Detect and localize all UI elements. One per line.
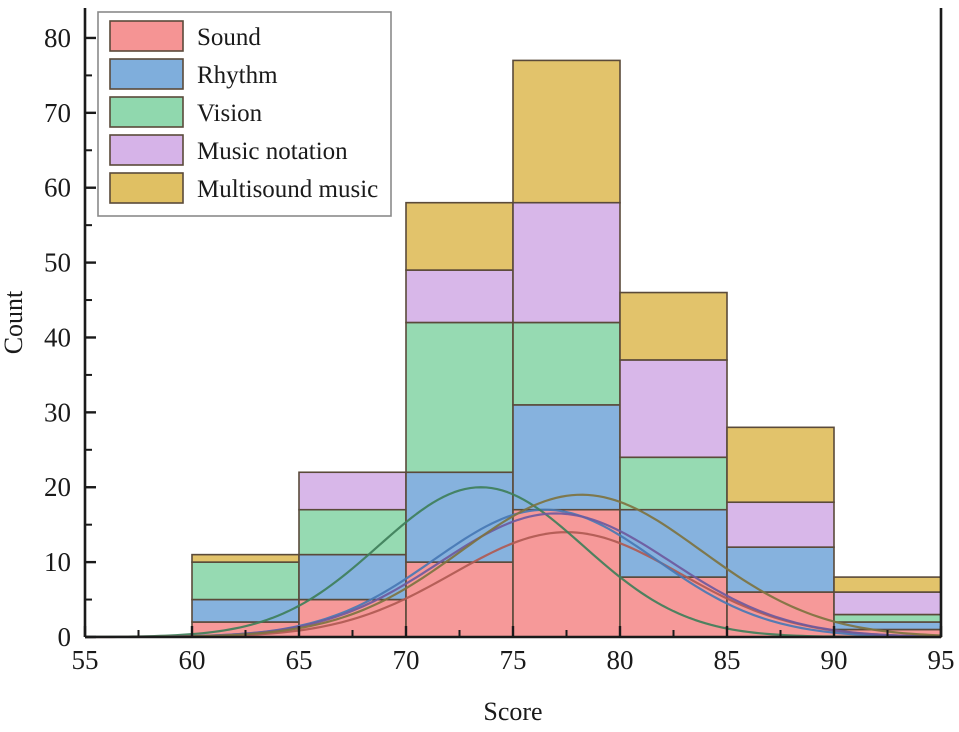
y-tick-label-70: 70 [44,98,71,128]
bar-segment-vision-90-95 [834,615,941,622]
bar-segment-multisound-music-75-80 [513,60,620,202]
x-tick-label-65: 65 [286,645,313,675]
legend-label-rhythm: Rhythm [197,62,278,89]
y-axis-title: Count [0,290,28,354]
legend-label-vision: Vision [197,100,263,127]
x-tick-label-95: 95 [928,645,955,675]
chart-legend: SoundRhythmVisionMusic notationMultisoun… [98,12,391,216]
y-tick-label-20: 20 [44,472,71,502]
x-tick-label-70: 70 [393,645,420,675]
x-tick-label-85: 85 [714,645,741,675]
legend-label-multisound-music: Multisound music [197,176,378,203]
legend-swatch-sound [110,21,183,51]
bar-segment-vision-65-70 [299,510,406,555]
bar-segment-music-notation-90-95 [834,592,941,614]
bar-segment-sound-75-80 [513,510,620,637]
legend-label-sound: Sound [197,24,261,51]
bar-segment-multisound-music-80-85 [620,293,727,360]
bar-segment-vision-60-65 [192,562,299,599]
bar-segment-vision-70-75 [406,323,513,473]
bar-segment-vision-80-85 [620,457,727,509]
x-tick-label-80: 80 [607,645,634,675]
bar-segment-multisound-music-85-90 [727,427,834,502]
bar-segment-music-notation-80-85 [620,360,727,457]
bar-segment-music-notation-65-70 [299,472,406,509]
bar-segment-music-notation-70-75 [406,270,513,322]
bar-segment-rhythm-60-65 [192,600,299,622]
x-tick-label-90: 90 [821,645,848,675]
x-tick-label-60: 60 [179,645,206,675]
legend-label-music-notation: Music notation [197,138,348,165]
legend-swatch-multisound-music [110,173,183,203]
bar-segment-rhythm-80-85 [620,510,727,577]
bar-segment-rhythm-75-80 [513,405,620,510]
bar-segment-music-notation-85-90 [727,502,834,547]
y-tick-label-10: 10 [44,547,71,577]
bar-segment-multisound-music-90-95 [834,577,941,592]
bar-segment-multisound-music-70-75 [406,203,513,270]
y-tick-label-40: 40 [44,322,71,352]
bar-segment-vision-75-80 [513,323,620,405]
y-tick-label-30: 30 [44,397,71,427]
y-tick-label-50: 50 [44,248,71,278]
legend-swatch-vision [110,97,183,127]
y-tick-label-0: 0 [58,622,72,652]
x-tick-label-55: 55 [72,645,99,675]
bar-segment-multisound-music-60-65 [192,555,299,562]
x-axis-title: Score [483,697,542,726]
chart-root: 01020304050607080556065707580859095Score… [0,0,959,732]
legend-swatch-rhythm [110,59,183,89]
stacked-histogram-chart: 01020304050607080556065707580859095Score… [0,0,959,732]
bar-segment-music-notation-75-80 [513,203,620,323]
x-tick-label-75: 75 [500,645,527,675]
y-tick-label-80: 80 [44,23,71,53]
bar-segment-rhythm-85-90 [727,547,834,592]
legend-swatch-music-notation [110,135,183,165]
y-tick-label-60: 60 [44,173,71,203]
